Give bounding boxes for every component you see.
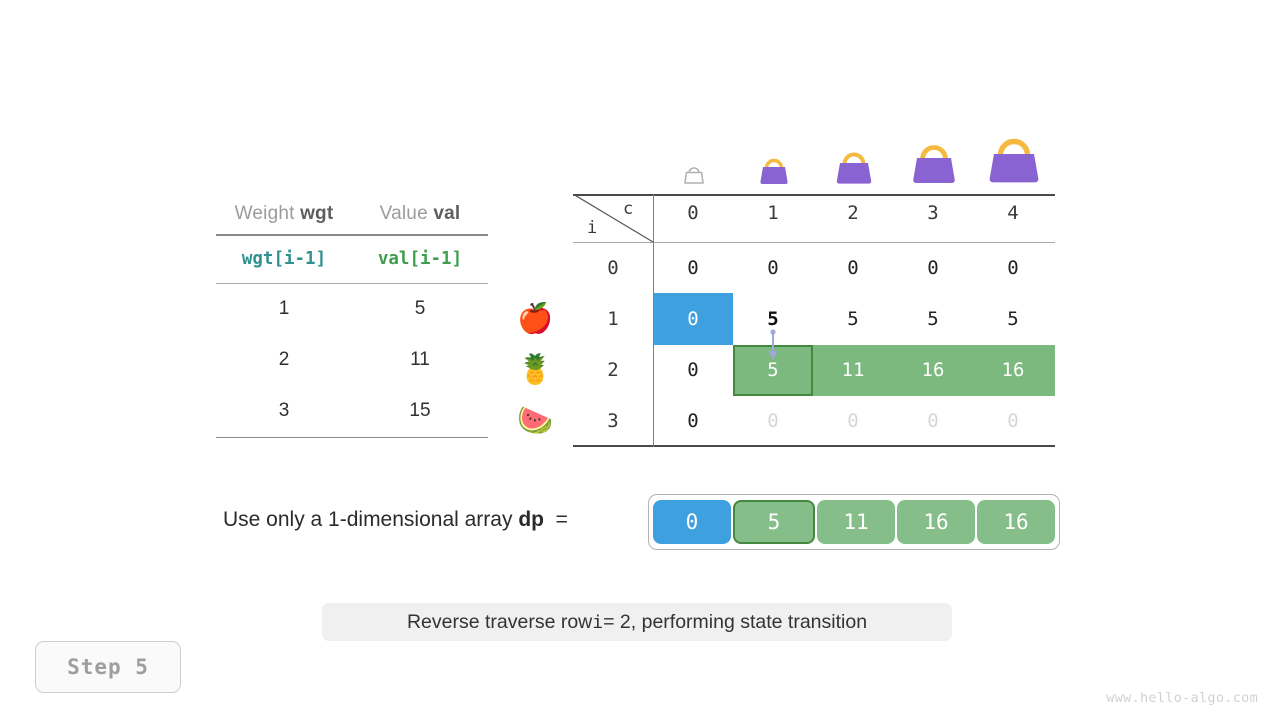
caption-banner: Reverse traverse row i = 2, performing s… [322,603,952,641]
dp-array-cell-4: 16 [977,500,1055,544]
dp-cell-3-2: 0 [813,396,893,447]
dp-row-header-3: 3 [573,396,653,447]
items-table-subheader-row: wgt[i-1] val[i-1] [216,236,488,283]
dp-col-header-4: 4 [973,202,1053,224]
item-value-2: 11 [352,349,488,371]
dp-cell-0-3: 0 [893,243,973,294]
dp-array: 0 5 11 16 16 [648,494,1060,550]
item-value-1: 5 [352,298,488,320]
dp-array-label-var: dp [518,508,544,531]
fruit-icon-column: 🍎 🍍 🍉 [508,294,562,447]
dp-cell-2-2: 11 [813,345,893,396]
dp-row-header-0: 0 [573,243,653,294]
item-weight-3: 3 [216,400,352,422]
items-table-row: 2 11 [216,335,488,386]
caption-part-1: Reverse traverse row [407,611,592,634]
item-weight-2: 2 [216,349,352,371]
handbag-icon-capacity-4 [974,122,1054,186]
handbag-icon-capacity-1 [734,148,814,186]
handbag-icon-capacity-0 [654,160,734,186]
items-table: Weight wgt Value val wgt[i-1] val[i-1] 1… [216,194,488,438]
knapsack-capacity-icons [654,122,1054,186]
item-weight-1: 1 [216,298,352,320]
dp-cell-0-2: 0 [813,243,893,294]
items-table-header-row: Weight wgt Value val [216,194,488,234]
watermelon-icon: 🍉 [508,396,562,447]
dp-cell-1-2: 5 [813,294,893,345]
dp-col-header-0: 0 [653,202,733,224]
dp-array-cell-2: 11 [817,500,895,544]
dp-axis-label-c: c [623,199,633,219]
items-table-row: 1 5 [216,284,488,335]
dp-row-header-1: 1 [573,294,653,345]
items-subheader-val: val[i-1] [352,249,488,269]
dp-cell-3-1: 0 [733,396,813,447]
dp-table: c i 0 1 2 3 4 0 1 2 3 0 0 0 0 0 0 5 5 5 … [573,194,1055,447]
dp-corner-diagonal [573,194,654,243]
dp-col-header-3: 3 [893,202,973,224]
dp-cell-3-3: 0 [893,396,973,447]
dp-cell-3-0: 0 [653,396,733,447]
dp-array-cell-0: 0 [653,500,731,544]
dp-cell-2-3: 16 [893,345,973,396]
dp-axis-label-i: i [587,218,597,238]
state-transition-arrow [766,329,780,366]
dp-cell-1-3: 5 [893,294,973,345]
step-badge: Step 5 [35,641,181,693]
dp-col-header-2: 2 [813,202,893,224]
handbag-icon-capacity-3 [894,130,974,186]
dp-col-header-1: 1 [733,202,813,224]
dp-row-header-2: 2 [573,345,653,396]
dp-array-label-text: Use only a 1-dimensional array [223,508,518,531]
dp-cell-2-0: 0 [653,345,733,396]
caption-variable-i: i [592,612,603,633]
dp-cell-0-0: 0 [653,243,733,294]
items-header-weight: Weight wgt [216,203,352,225]
item-value-3: 15 [352,400,488,422]
watermark: www.hello-algo.com [1106,690,1258,706]
pineapple-icon: 🍍 [508,345,562,396]
handbag-icon-capacity-2 [814,140,894,186]
dp-array-cell-1: 5 [733,500,815,544]
dp-cell-2-4: 16 [973,345,1053,396]
caption-part-2: = 2, performing state transition [603,611,867,634]
items-table-divider-bottom [216,437,488,439]
dp-array-label-eq: = [556,508,568,531]
apple-icon: 🍎 [508,294,562,345]
dp-cell-1-4: 5 [973,294,1053,345]
dp-cell-0-4: 0 [973,243,1053,294]
items-subheader-wgt: wgt[i-1] [216,249,352,269]
dp-cell-0-1: 0 [733,243,813,294]
slide-canvas: Weight wgt Value val wgt[i-1] val[i-1] 1… [0,0,1280,720]
items-table-row: 3 15 [216,386,488,437]
dp-array-label: Use only a 1-dimensional array dp = [223,508,568,532]
step-badge-label: Step 5 [67,655,149,679]
dp-cell-1-0: 0 [653,294,733,345]
items-header-value: Value val [352,203,488,225]
dp-cell-3-4: 0 [973,396,1053,447]
dp-array-cell-3: 16 [897,500,975,544]
